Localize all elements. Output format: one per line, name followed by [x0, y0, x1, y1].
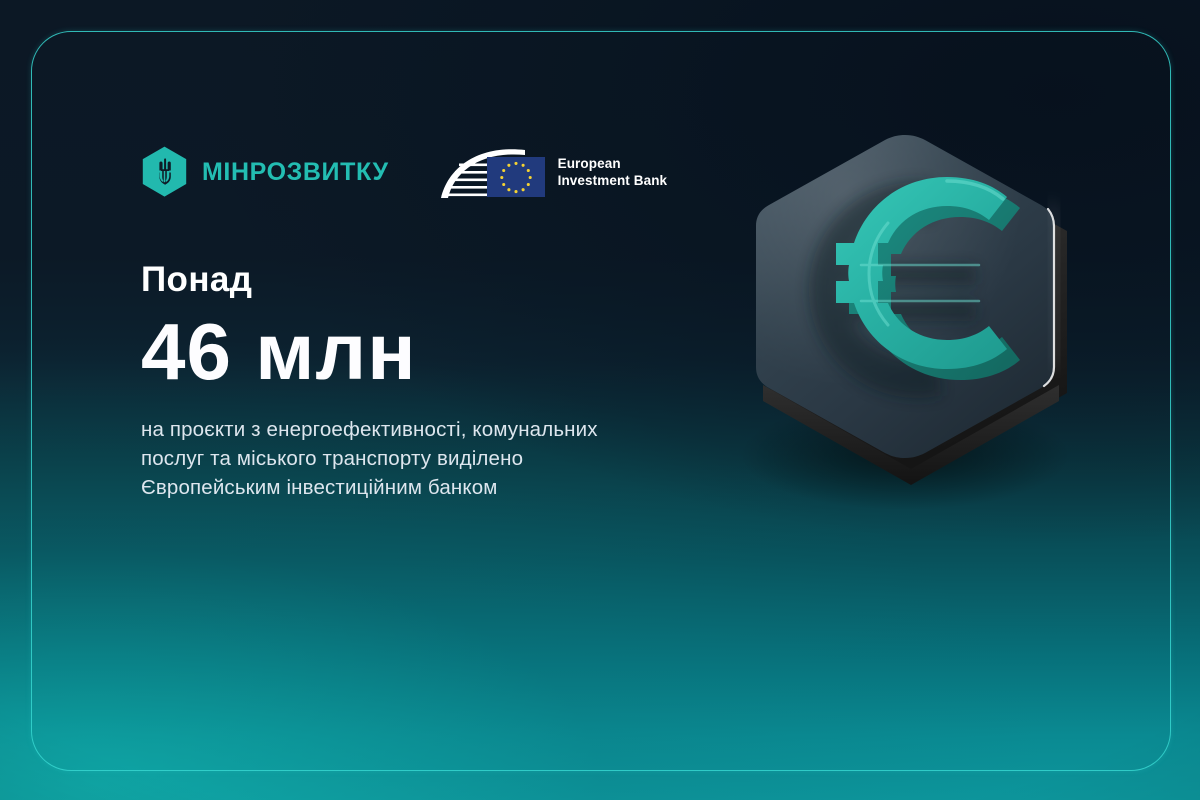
ministry-logo: МІНРОЗВИТКУ: [141, 146, 389, 199]
ministry-wordmark: МІНРОЗВИТКУ: [202, 160, 389, 185]
body-line-2: послуг та міського транспорту виділено: [141, 444, 721, 473]
eib-wordmark-line1: European: [558, 156, 621, 171]
headline-kicker: Понад: [141, 262, 721, 297]
eib-wordmark-line2: Investment Bank: [558, 173, 668, 188]
euro-hexagon-badge: [700, 105, 1110, 515]
eib-wordmark: European Investment Bank: [558, 155, 668, 190]
eib-arc-flag-icon: [439, 141, 549, 203]
ukraine-trident-hex-icon: [141, 146, 188, 199]
headline-amount: 46 млн: [141, 311, 721, 393]
logo-row: МІНРОЗВИТКУ: [141, 138, 721, 206]
body-line-3: Європейським інвестиційним банком: [141, 473, 721, 502]
body-paragraph: на проєкти з енергоефективності, комунал…: [141, 415, 721, 502]
content-column: МІНРОЗВИТКУ: [141, 138, 721, 502]
eib-logo: European Investment Bank: [439, 141, 668, 203]
infographic-canvas: МІНРОЗВИТКУ: [0, 0, 1200, 800]
body-line-1: на проєкти з енергоефективності, комунал…: [141, 415, 721, 444]
